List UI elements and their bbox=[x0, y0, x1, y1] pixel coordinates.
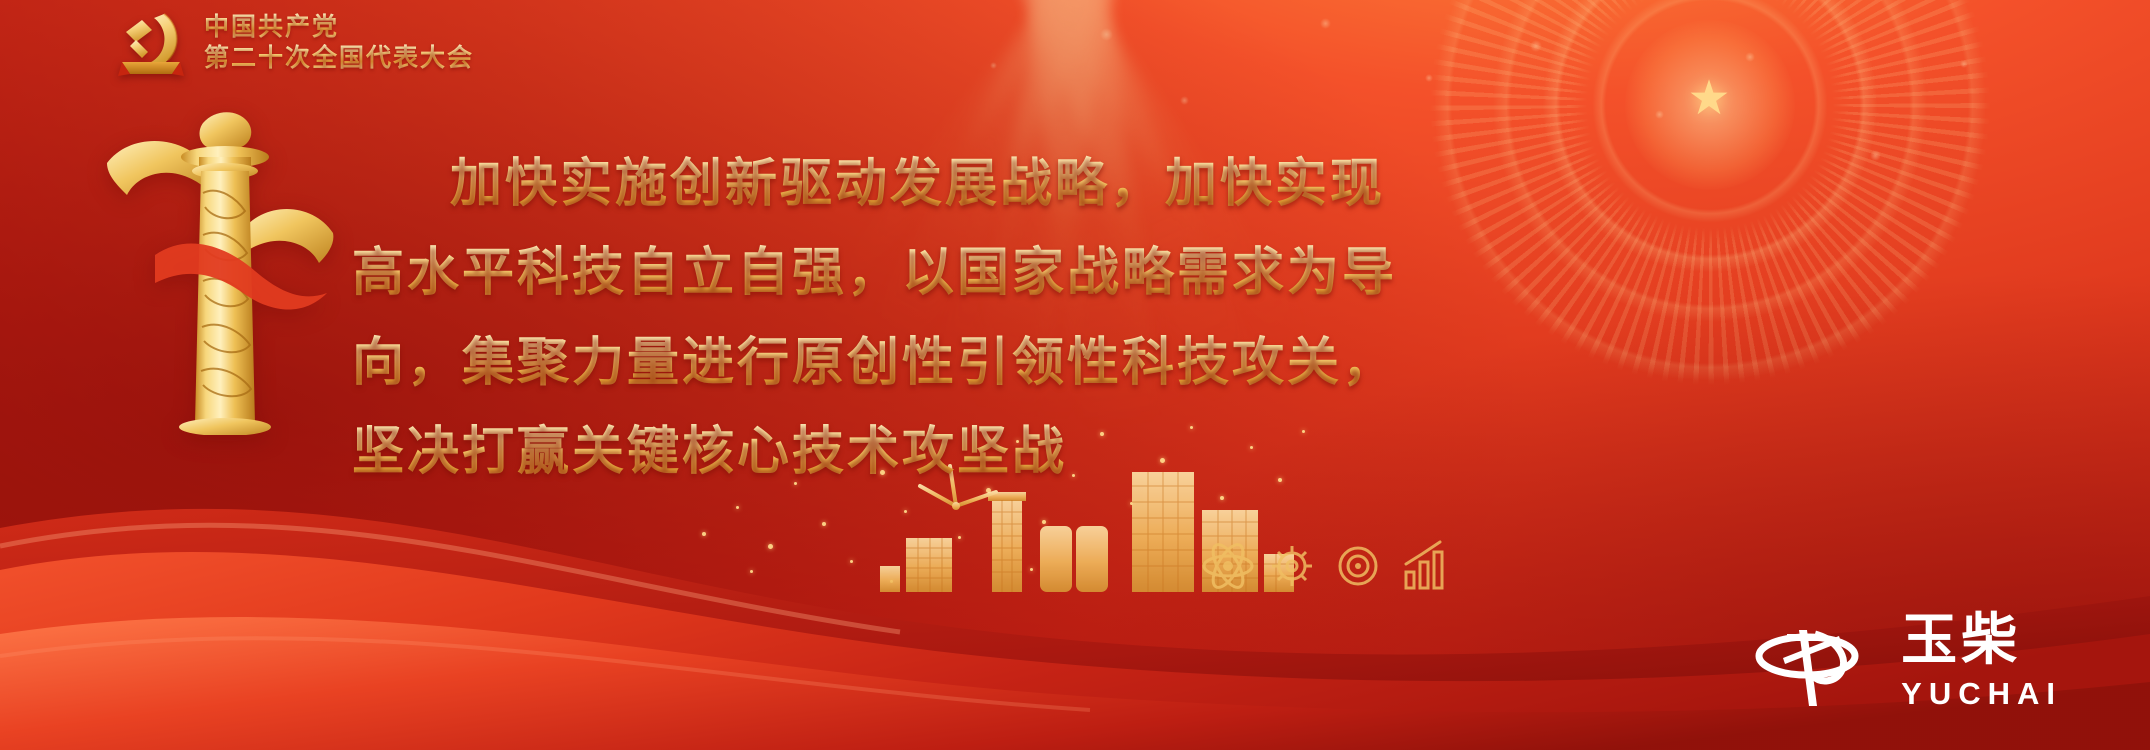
slogan-line-3: 向，集聚力量进行原创性引领性科技攻关， bbox=[352, 319, 1682, 408]
slogan-line-4: 坚决打赢关键核心技术攻坚战 bbox=[352, 408, 1682, 497]
brand-name-cn: 玉柴 bbox=[1901, 613, 2021, 669]
slogan-line-2: 高水平科技自立自强，以国家战略需求为导 bbox=[352, 229, 1682, 318]
chart-growth-icon bbox=[1406, 542, 1442, 588]
congress-logo-text: 中国共产党 第二十次全国代表大会 bbox=[204, 13, 474, 72]
slogan-line-1: 加快实施创新驱动发展战略，加快实现 bbox=[352, 140, 1682, 229]
tech-icon-row bbox=[1200, 530, 1460, 600]
congress-line-1: 中国共产党 bbox=[204, 13, 474, 41]
banner-stage: ★ bbox=[0, 0, 2150, 750]
yuchai-brand: 玉柴 YUCHAI bbox=[1755, 613, 2062, 712]
target-icon bbox=[1340, 548, 1376, 584]
atom-icon bbox=[1204, 540, 1252, 592]
congress-logo: 中国共产党 第二十次全国代表大会 bbox=[112, 6, 474, 78]
yuchai-wordmark: 玉柴 YUCHAI bbox=[1901, 613, 2062, 712]
huabiao-column bbox=[95, 105, 345, 435]
yuchai-logo-mark bbox=[1755, 618, 1879, 708]
congress-line-2: 第二十次全国代表大会 bbox=[204, 44, 474, 72]
hammer-sickle-emblem bbox=[112, 6, 190, 78]
slogan-block: 加快实施创新驱动发展战略，加快实现 高水平科技自立自强，以国家战略需求为导 向，… bbox=[352, 140, 1682, 498]
brand-name-en: YUCHAI bbox=[1901, 676, 2062, 712]
gear-icon bbox=[1272, 546, 1312, 586]
